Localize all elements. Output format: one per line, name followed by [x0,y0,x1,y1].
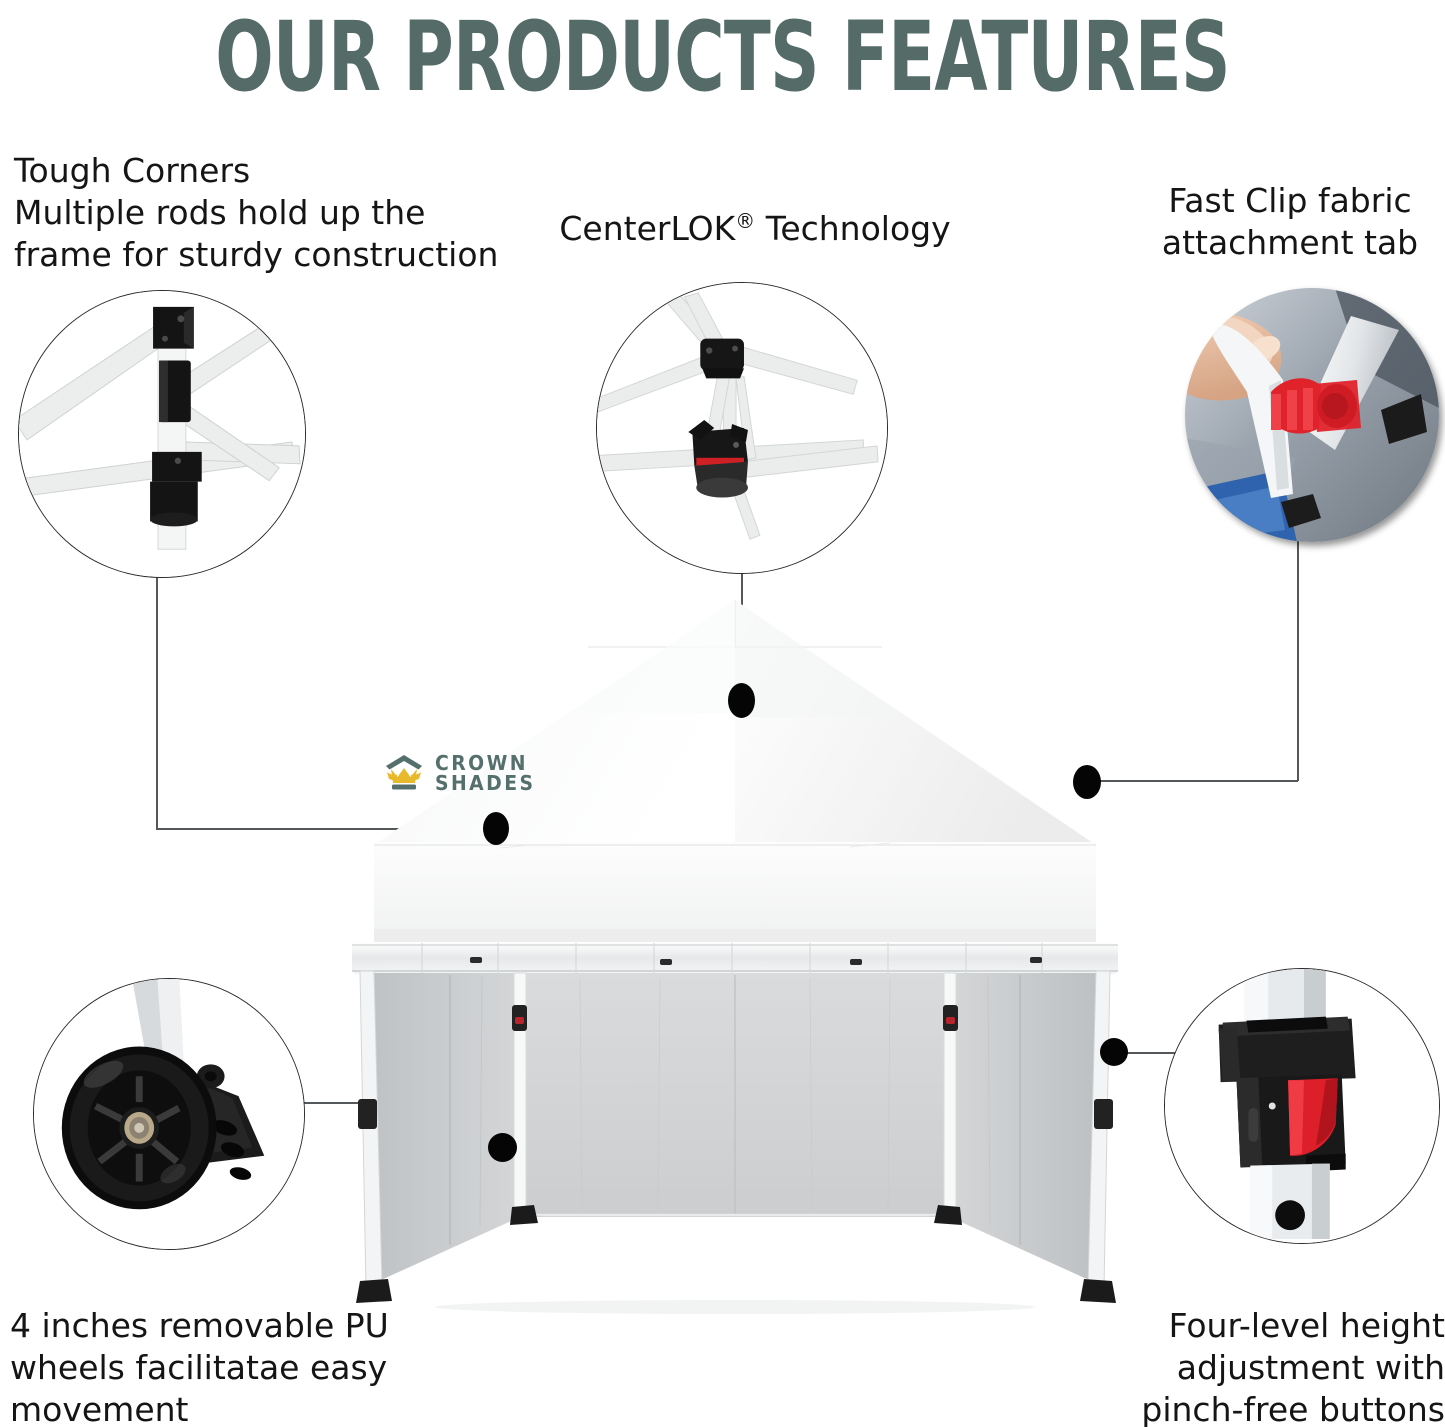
callout-label-tough-corners: Tough Corners Multiple rods hold up the … [14,150,534,276]
page-title: OUR PRODUCTS FEATURES [145,6,1301,109]
connector-tough-corners-vertical [156,576,158,829]
callout-image-fast-clip [1185,288,1439,542]
callout-dot-height-adjust[interactable] [1100,1038,1128,1066]
callout-dot-pu-wheels[interactable] [488,1133,517,1162]
brand-logo-line1: CROWN [435,753,535,773]
callout-image-height-adjust [1164,968,1440,1244]
registered-trademark-icon: ® [735,209,755,233]
height-adjuster-photo [1165,969,1439,1243]
crown-shades-logo-icon [382,753,426,793]
callout-image-pu-wheels [33,978,305,1250]
center-hub-photo [597,283,887,573]
fast-clip-photo [1185,288,1439,542]
infographic-canvas: OUR PRODUCTS FEATURES Tough Corners Mult… [0,0,1445,1427]
brand-logo-line2: SHADES [435,773,535,793]
brand-logo-text: CROWN SHADES [435,753,542,793]
callout-dot-fast-clip[interactable] [1073,765,1101,799]
callout-label-centerlok: CenterLOK® Technology [540,200,970,250]
brand-logo: CROWN SHADES [382,753,542,793]
callout-dot-tough-corners[interactable] [483,812,509,845]
callout-dot-centerlok[interactable] [728,683,755,718]
callout-label-pu-wheels: 4 inches removable PU wheels facilitatae… [10,1305,430,1427]
connector-fast-clip-vertical [1297,540,1299,781]
callout-image-tough-corners [18,290,306,578]
pu-wheel-photo [34,979,304,1249]
centerlok-suffix: Technology [755,209,950,248]
callout-label-fast-clip: Fast Clip fabric attachment tab [1135,180,1445,264]
callout-image-centerlok [596,282,888,574]
centerlok-text: CenterLOK [559,209,735,248]
corner-bracket-photo [19,291,305,577]
callout-label-height-adjust: Four-level height adjustment with pinch-… [1060,1305,1445,1427]
